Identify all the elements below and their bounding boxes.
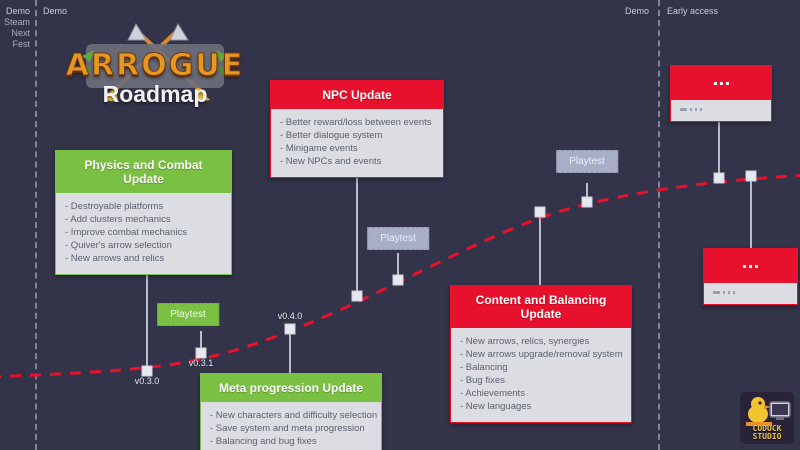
milestone-marker-playtest-2[interactable] [393, 275, 404, 286]
redacted-dot [749, 265, 752, 268]
card-title-redacted [704, 249, 797, 283]
milestone-marker-content[interactable] [535, 207, 546, 218]
card-item: - Better reward/loss between events [280, 116, 434, 129]
card-item: - Minigame events [280, 142, 434, 155]
card-item: - New NPCs and events [280, 155, 434, 168]
card-item: - Achievements [460, 387, 622, 400]
card-item: - Better dialogue system [280, 129, 434, 142]
card-title: Physics and Combat Update [56, 151, 231, 193]
redacted-placeholder [713, 291, 788, 294]
milestone-marker-secret-2[interactable] [746, 171, 757, 182]
studio-name-line2: STUDIO [740, 433, 794, 441]
arrogue-logo: ARROGUE Roadmap [60, 18, 250, 118]
card-meta-progression-update[interactable]: Meta progression Update - New characters… [200, 373, 382, 450]
card-title-redacted [671, 66, 771, 100]
redacted-dot [726, 82, 729, 85]
card-body: - Better reward/loss between events - Be… [271, 109, 443, 177]
card-item: - Bug fixes [460, 374, 622, 387]
card-item: - New arrows upgrade/removal system [460, 348, 622, 361]
card-body-redacted [704, 283, 797, 304]
redacted-dot [720, 82, 723, 85]
card-item: - Balancing and bug fixes [210, 435, 372, 448]
milestone-marker-v040[interactable] [285, 324, 296, 335]
redacted-bar [680, 108, 687, 111]
redacted-dot [700, 108, 702, 111]
redacted-dot [714, 82, 717, 85]
version-label-v030: v0.3.0 [135, 376, 160, 386]
card-content-and-balancing-update[interactable]: Content and Balancing Update - New arrow… [450, 285, 632, 423]
card-physics-and-combat-update[interactable]: Physics and Combat Update - Destroyable … [55, 150, 232, 275]
card-body-redacted [671, 100, 771, 121]
card-item: - Improve combat mechanics [65, 226, 222, 239]
milestone-marker-v030[interactable] [142, 366, 153, 377]
playtest-badge-3[interactable]: Playtest [556, 150, 618, 173]
card-item: - New arrows and relics [65, 252, 222, 265]
card-item: - New languages [460, 400, 622, 413]
card-title: Content and Balancing Update [451, 286, 631, 328]
playtest-badge-2[interactable]: Playtest [367, 227, 429, 250]
logo-subtitle: Roadmap [60, 81, 250, 108]
redacted-dot [733, 291, 735, 294]
card-secret-update-1[interactable] [670, 65, 772, 122]
card-item: - New characters and difficulty selectio… [210, 409, 372, 422]
card-title: NPC Update [271, 81, 443, 109]
card-body: - New arrows, relics, synergies - New ar… [451, 328, 631, 422]
redacted-dot [755, 265, 758, 268]
milestone-marker-v031[interactable] [196, 348, 207, 359]
card-body: - Destroyable platforms - Add clusters m… [56, 193, 231, 274]
version-label-v031: v0.3.1 [189, 358, 214, 368]
redacted-bar [713, 291, 720, 294]
redacted-dot [723, 291, 725, 294]
card-item: - Quiver's arrow selection [65, 239, 222, 252]
card-item: - Balancing [460, 361, 622, 374]
redacted-dot [690, 108, 692, 111]
roadmap-canvas: Demo Steam Next Fest Demo Demo Early acc… [0, 0, 800, 450]
redacted-placeholder [679, 77, 763, 89]
redacted-placeholder [680, 108, 762, 111]
card-item: - Save system and meta progression [210, 422, 372, 435]
logo-title: ARROGUE [60, 48, 250, 83]
card-item: - Destroyable platforms [65, 200, 222, 213]
coduck-studio-logo[interactable]: CODUCK STUDIO [740, 392, 794, 444]
milestone-marker-npc[interactable] [352, 291, 363, 302]
card-item: - New arrows, relics, synergies [460, 335, 622, 348]
card-item: - Add clusters mechanics [65, 213, 222, 226]
version-label-v040: v0.4.0 [278, 311, 303, 321]
redacted-dot [695, 108, 697, 111]
redacted-dot [728, 291, 730, 294]
studio-name: CODUCK STUDIO [740, 425, 794, 441]
milestone-marker-secret-1[interactable] [714, 173, 725, 184]
card-npc-update[interactable]: NPC Update - Better reward/loss between … [270, 80, 444, 178]
redacted-placeholder [712, 260, 789, 272]
card-secret-update-2[interactable] [703, 248, 798, 305]
card-title: Meta progression Update [201, 374, 381, 402]
card-body: - New characters and difficulty selectio… [201, 402, 381, 450]
playtest-badge-1[interactable]: Playtest [157, 303, 219, 326]
redacted-dot [743, 265, 746, 268]
milestone-marker-playtest-3[interactable] [582, 197, 593, 208]
